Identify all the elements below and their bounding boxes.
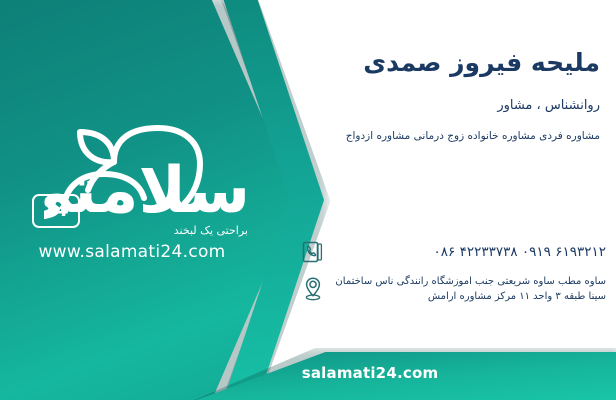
logo-website-url[interactable]: www.salamati24.com (18, 242, 246, 262)
address-line-1: ساوه مطب ساوه شریعتی جنب اموزشگاه رانندگ… (334, 274, 606, 289)
phone-numbers[interactable]: ۶۱۹۳۲۱۲ ۰۹۱۹ ۴۲۲۳۳۷۳۸ ۰۸۶ (330, 244, 606, 260)
phone-book-icon (296, 240, 330, 264)
person-services: مشاوره فردی مشاوره خانواده زوج درمانی مش… (300, 130, 600, 142)
map-pin-icon (296, 275, 330, 303)
person-name: ملیحه فیروز صمدی (300, 48, 600, 77)
business-card: سلامتی 24 براحتی یک لبخند www.salamati24… (0, 0, 616, 400)
contact-block: ۶۱۹۳۲۱۲ ۰۹۱۹ ۴۲۲۳۳۷۳۸ ۰۸۶ ساوه مطب ساوه … (296, 240, 606, 314)
brand-logo: سلامتی 24 براحتی یک لبخند www.salamati24… (18, 118, 250, 268)
logo-24-badge: 24 (32, 194, 80, 228)
info-panel: ملیحه فیروز صمدی روانشناس ، مشاور مشاوره… (290, 0, 616, 352)
address-row: ساوه مطب ساوه شریعتی جنب اموزشگاه رانندگ… (296, 274, 606, 304)
address-text: ساوه مطب ساوه شریعتی جنب اموزشگاه رانندگ… (330, 274, 606, 304)
logo-tagline: براحتی یک لبخند (98, 224, 248, 237)
phone-row: ۶۱۹۳۲۱۲ ۰۹۱۹ ۴۲۲۳۳۷۳۸ ۰۸۶ (296, 240, 606, 264)
person-role: روانشناس ، مشاور (300, 98, 600, 113)
address-line-2: سینا طبقه ۳ واحد ۱۱ مرکز مشاوره ارامش (334, 289, 606, 304)
